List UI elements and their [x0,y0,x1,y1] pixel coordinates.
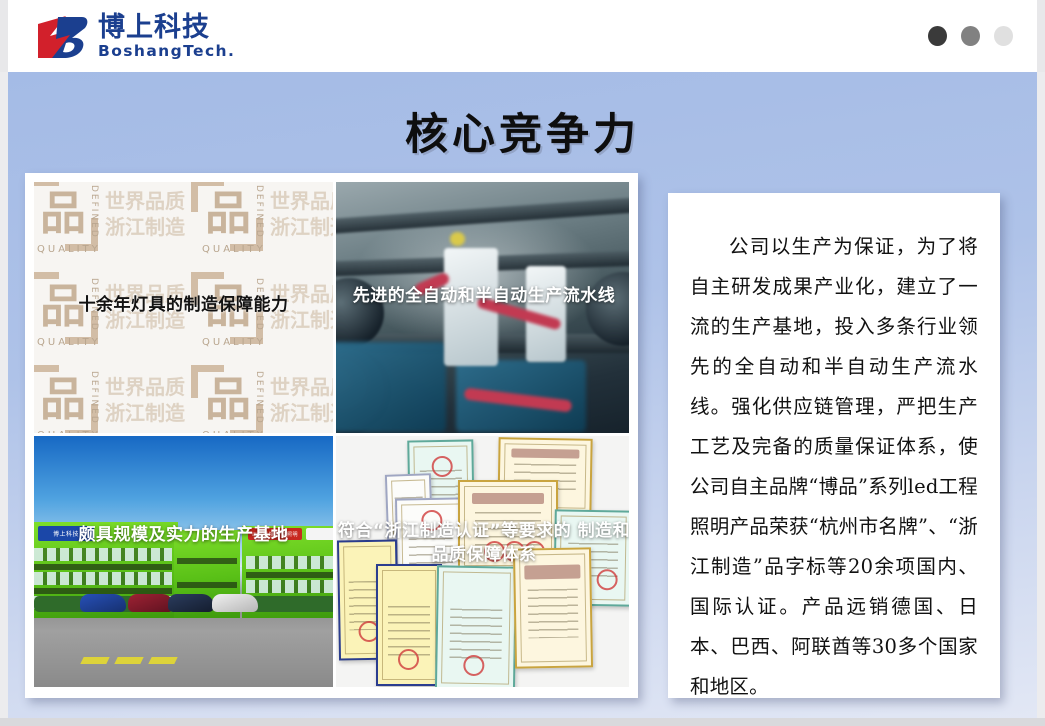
parked-car [168,594,214,612]
logo-wordmark: 博上科技 BoshangTech. [98,14,235,60]
watermark-text: 世界品质 浙江制造 [105,375,185,426]
header-left-edge [0,0,8,72]
logo-english-name: BoshangTech. [98,44,235,60]
slide-body: 核心竞争力 品 QUALITY DEFINED [0,72,1045,726]
watermark-text: 世界品质 浙江制造 [105,189,185,240]
boshang-b-logo-icon [36,14,90,60]
slide-header: 博上科技 BoshangTech. [0,0,1045,72]
stage-right-edge [1037,72,1045,726]
quality-badge-icon: 品 QUALITY DEFINED [34,365,98,434]
description-paragraph: 公司以生产为保证，为了将自主研发成果产业化，建立了一流的生产基地，投入多条行业领… [690,227,978,707]
presentation-slide: 博上科技 BoshangTech. 核心竞争力 [0,0,1045,726]
logo-chinese-name: 博上科技 [98,14,235,42]
watermark-text: 世界品质 浙江制造 [270,375,333,426]
progress-dot-1[interactable] [928,26,947,46]
stage-left-edge [0,72,8,726]
collage-caption-production-line: 先进的全自动和半自动生产流水线 [336,285,629,309]
image-collage: 品 QUALITY DEFINED 世界品质 浙江制造 [34,182,629,689]
collage-caption-quality: 十余年灯具的制造保障能力 [34,294,333,318]
road-marking [148,657,177,664]
page-title: 核心竞争力 [0,100,1045,162]
collage-caption-certificates: 符合“浙江制造认证”等要求的 制造和品质保障体系 [336,520,629,568]
certificate [376,564,442,686]
quality-badge-icon: 品 QUALITY DEFINED [191,365,263,434]
certificate [435,565,517,687]
header-right-edge [1037,0,1045,72]
collage-tile-quality-watermark[interactable]: 品 QUALITY DEFINED 世界品质 浙江制造 [34,182,333,433]
watermark-text: 世界品质 浙江制造 [270,189,333,240]
machine-block [336,342,446,432]
indicator-light [450,232,465,246]
road-marking [80,657,109,664]
collage-caption-factory: 颇具规模及实力的生产基地 [34,524,333,548]
ground-road [34,607,333,687]
conveyor-rail [336,197,629,234]
parked-car [80,594,126,612]
road-marking [114,657,143,664]
description-card: 公司以生产为保证，为了将自主研发成果产业化，建立了一流的生产基地，投入多条行业领… [668,193,1000,698]
slide-progress-dots[interactable] [928,26,1013,46]
quality-badge-icon: 品 QUALITY DEFINED [191,182,263,251]
company-logo[interactable]: 博上科技 BoshangTech. [36,13,235,61]
collage-tile-factory-base[interactable]: 博上科技 以光引领 智慧照明 [34,436,333,687]
quality-badge-icon: 品 QUALITY DEFINED [34,182,98,251]
image-collage-card: 品 QUALITY DEFINED 世界品质 浙江制造 [25,173,638,698]
parked-car [212,594,258,612]
progress-dot-2[interactable] [961,26,980,46]
stage-bottom-edge [0,718,1045,726]
progress-dot-3[interactable] [994,26,1013,46]
collage-tile-certificates[interactable]: 符合“浙江制造认证”等要求的 制造和品质保障体系 [336,436,629,687]
collage-tile-production-line[interactable]: 先进的全自动和半自动生产流水线 [336,182,629,433]
